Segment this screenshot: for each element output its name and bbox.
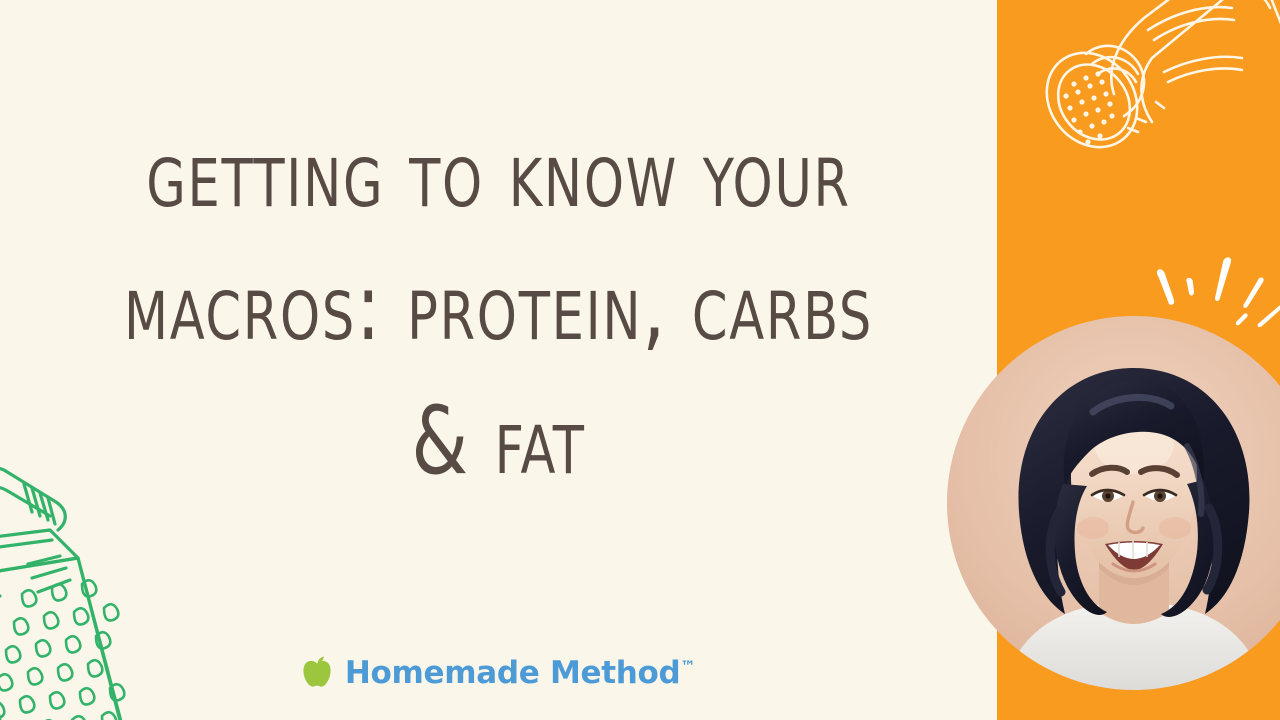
title-line-1: Getting to Know Your	[70, 108, 927, 241]
title-line-3: & Fat	[70, 375, 927, 508]
apple-icon	[302, 656, 332, 690]
trademark-symbol: ™	[680, 658, 695, 676]
brand-logo: Homemade Method™	[0, 655, 997, 691]
brand-name: Homemade Method™	[345, 655, 695, 691]
page-title: Getting to Know Your Macros: Protein, Ca…	[0, 108, 997, 508]
brand-name-text: Homemade Method	[345, 655, 681, 691]
video-slide: Getting to Know Your Macros: Protein, Ca…	[0, 0, 1280, 720]
title-line-2: Macros: Protein, Carbs	[70, 241, 927, 374]
